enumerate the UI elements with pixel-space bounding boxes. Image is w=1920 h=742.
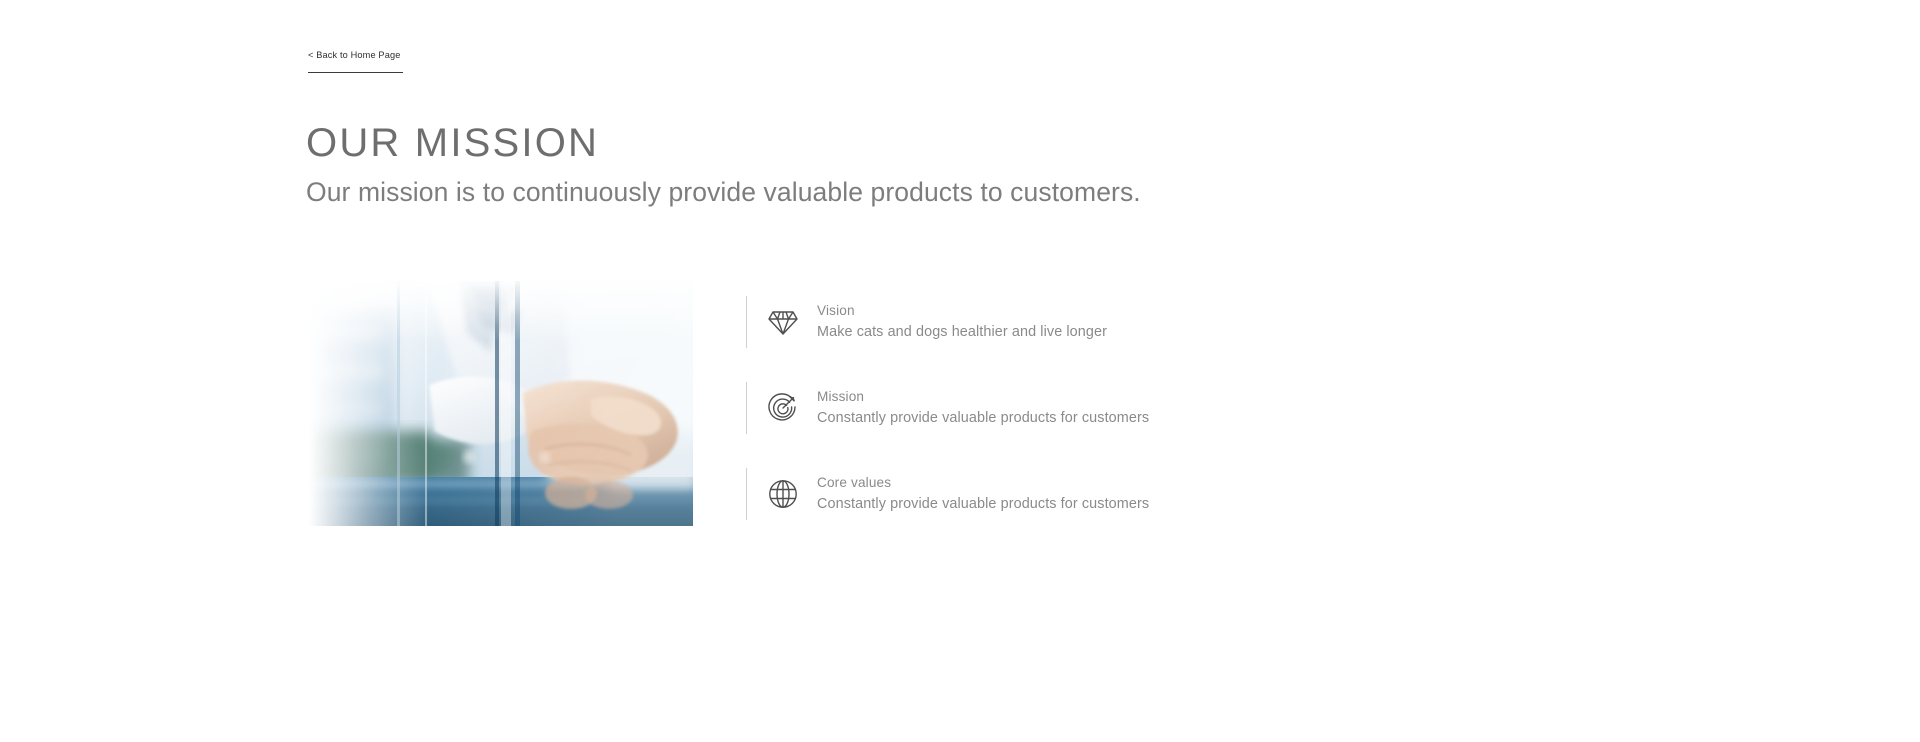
feature-title: Vision <box>817 301 1107 321</box>
feature-title: Mission <box>817 387 1149 407</box>
feature-description: Make cats and dogs healthier and live lo… <box>817 321 1107 343</box>
back-to-home-label: < Back to Home Page <box>308 50 400 60</box>
feature-item-core-values[interactable]: Core values Constantly provide valuable … <box>746 468 1446 520</box>
diamond-icon <box>766 305 800 339</box>
feature-item-mission[interactable]: Mission Constantly provide valuable prod… <box>746 382 1446 434</box>
page-subtitle: Our mission is to continuously provide v… <box>306 174 1141 210</box>
feature-item-vision[interactable]: Vision Make cats and dogs healthier and … <box>746 296 1446 348</box>
feature-divider <box>746 296 747 348</box>
handshake-photo <box>309 281 693 526</box>
handshake-photo-graphic <box>309 281 693 526</box>
feature-text: Mission Constantly provide valuable prod… <box>817 387 1149 429</box>
feature-title: Core values <box>817 473 1149 493</box>
back-to-home-link[interactable]: < Back to Home Page <box>308 45 403 73</box>
globe-icon <box>766 477 800 511</box>
feature-text: Vision Make cats and dogs healthier and … <box>817 301 1107 343</box>
slide-canvas: < Back to Home Page OUR MISSION Our miss… <box>0 0 1920 742</box>
feature-description: Constantly provide valuable products for… <box>817 493 1149 515</box>
feature-description: Constantly provide valuable products for… <box>817 407 1149 429</box>
feature-divider <box>746 468 747 520</box>
feature-divider <box>746 382 747 434</box>
feature-text: Core values Constantly provide valuable … <box>817 473 1149 515</box>
page-title: OUR MISSION <box>306 118 599 168</box>
feature-list: Vision Make cats and dogs healthier and … <box>746 296 1446 520</box>
target-icon <box>766 391 800 425</box>
